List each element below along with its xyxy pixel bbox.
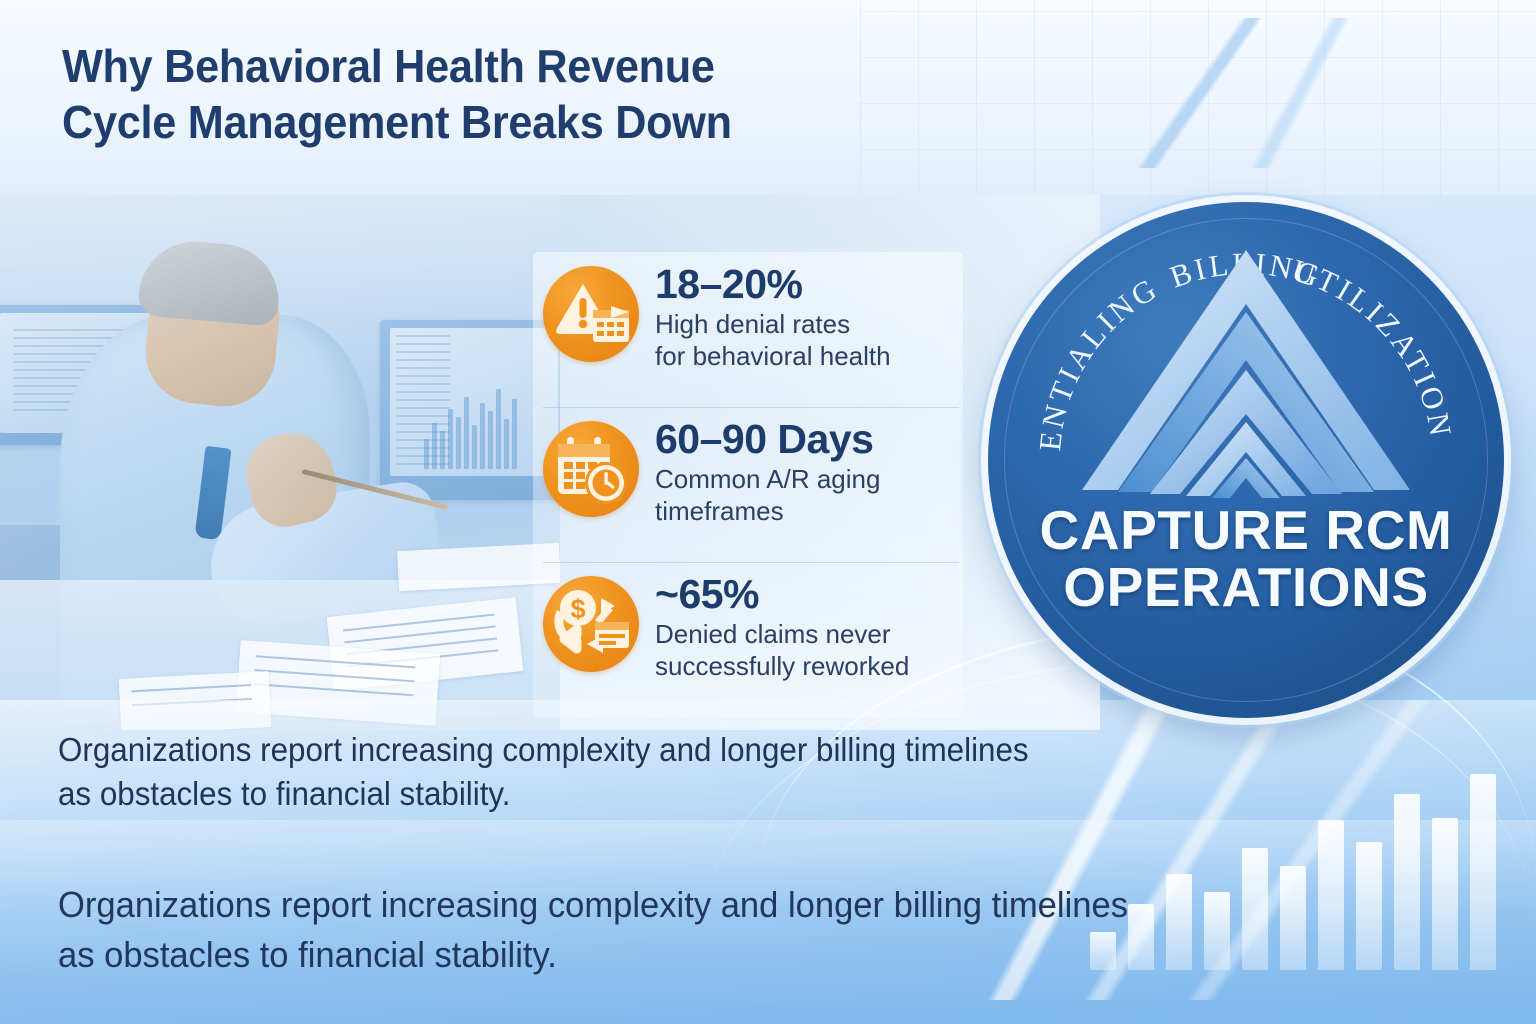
stat-label: Denied claims never successfully reworke… (655, 619, 909, 682)
layered-chevron-logo (1074, 242, 1418, 504)
stat-row: 60–90 Days Common A/R aging timeframes (533, 407, 963, 562)
stat-label: Common A/R aging timeframes (655, 464, 880, 527)
photo-document-3 (119, 671, 272, 730)
calendar-clock-icon (543, 421, 639, 517)
stat-value: 60–90 Days (655, 419, 880, 460)
svg-text:$: $ (570, 594, 585, 624)
stat-value: ~65% (655, 574, 909, 615)
stat-value: 18–20% (655, 264, 891, 305)
warning-triangle-claim-form-icon (543, 266, 639, 362)
stat-text: ~65% Denied claims never successfully re… (655, 572, 909, 682)
dollar-cycle-claim-icon: $ (543, 576, 639, 672)
office-photo (0, 195, 560, 730)
capture-rcm-badge: CREDENTIALING BILLING UTILIZATION REVIEW (988, 202, 1504, 718)
infographic-canvas: Why Behavioral Health Revenue Cycle Mana… (0, 0, 1536, 1024)
caption-primary: Organizations report increasing complexi… (58, 728, 1122, 816)
stat-row: 18–20% High denial rates for behavioral … (533, 252, 963, 407)
stat-text: 60–90 Days Common A/R aging timeframes (655, 417, 880, 527)
page-title: Why Behavioral Health Revenue Cycle Mana… (62, 38, 870, 150)
caption-secondary: Organizations report increasing complexi… (58, 880, 1229, 979)
header: Why Behavioral Health Revenue Cycle Mana… (62, 38, 922, 150)
statistics-panel: 18–20% High denial rates for behavioral … (533, 252, 963, 718)
photo-screen-text-main (396, 335, 450, 465)
stat-text: 18–20% High denial rates for behavioral … (655, 262, 891, 372)
stat-row: $ ~65% Denied claims never successfully … (533, 562, 963, 717)
stat-label: High denial rates for behavioral health (655, 309, 891, 372)
header-grid-texture (860, 0, 1536, 196)
badge-name: CAPTURE RCM OPERATIONS (988, 502, 1504, 616)
header-trendline-texture (900, 18, 1536, 168)
